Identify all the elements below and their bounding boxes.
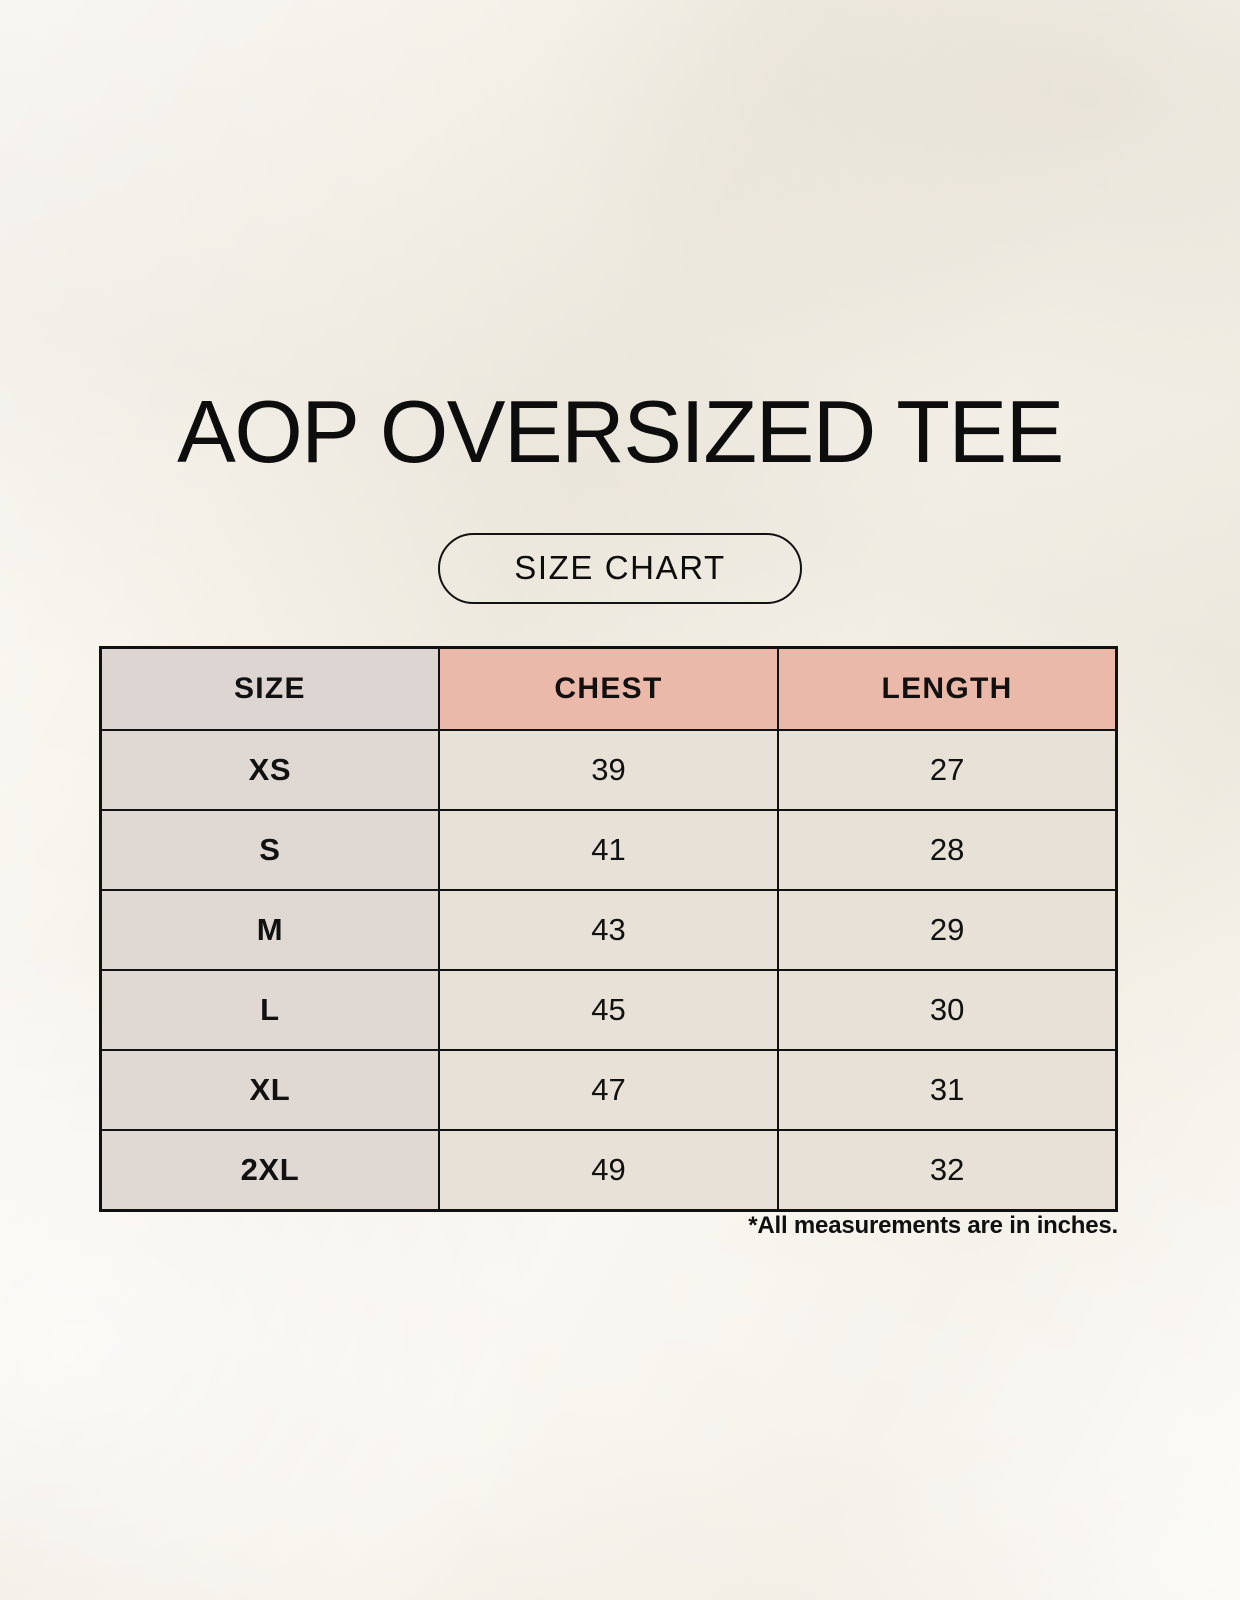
cell-size: L — [101, 970, 439, 1050]
cell-length: 32 — [778, 1130, 1116, 1210]
cell-chest: 49 — [439, 1130, 778, 1210]
cell-size: XS — [101, 730, 439, 810]
table-row: S 41 28 — [101, 810, 1117, 890]
cell-chest: 45 — [439, 970, 778, 1050]
cell-chest: 43 — [439, 890, 778, 970]
cell-length: 31 — [778, 1050, 1116, 1130]
cell-size: XL — [101, 1050, 439, 1130]
column-header-size: SIZE — [101, 648, 439, 731]
column-header-chest: CHEST — [439, 648, 778, 731]
size-table: SIZE CHEST LENGTH XS 39 27 S 41 28 M — [99, 646, 1118, 1212]
table-row: M 43 29 — [101, 890, 1117, 970]
cell-length: 27 — [778, 730, 1116, 810]
measurements-footnote: *All measurements are in inches. — [99, 1212, 1118, 1240]
cell-chest: 39 — [439, 730, 778, 810]
cell-size: M — [101, 890, 439, 970]
cell-chest: 47 — [439, 1050, 778, 1130]
cell-size: 2XL — [101, 1130, 439, 1210]
cell-length: 28 — [778, 810, 1116, 890]
table-header-row: SIZE CHEST LENGTH — [101, 648, 1117, 731]
table-header: SIZE CHEST LENGTH — [101, 648, 1117, 731]
table-body: XS 39 27 S 41 28 M 43 29 L 45 30 — [101, 730, 1117, 1210]
size-table-container: SIZE CHEST LENGTH XS 39 27 S 41 28 M — [99, 646, 1118, 1212]
table-row: 2XL 49 32 — [101, 1130, 1117, 1210]
table-row: XL 47 31 — [101, 1050, 1117, 1130]
cell-length: 29 — [778, 890, 1116, 970]
column-header-length: LENGTH — [778, 648, 1116, 731]
cell-chest: 41 — [439, 810, 778, 890]
badge-container: SIZE CHART — [0, 533, 1240, 604]
table-row: L 45 30 — [101, 970, 1117, 1050]
size-chart-badge: SIZE CHART — [438, 533, 802, 604]
size-chart-page: AOP OVERSIZED TEE SIZE CHART SIZE CHEST … — [0, 0, 1240, 1600]
cell-length: 30 — [778, 970, 1116, 1050]
page-title: AOP OVERSIZED TEE — [0, 389, 1240, 475]
table-row: XS 39 27 — [101, 730, 1117, 810]
cell-size: S — [101, 810, 439, 890]
